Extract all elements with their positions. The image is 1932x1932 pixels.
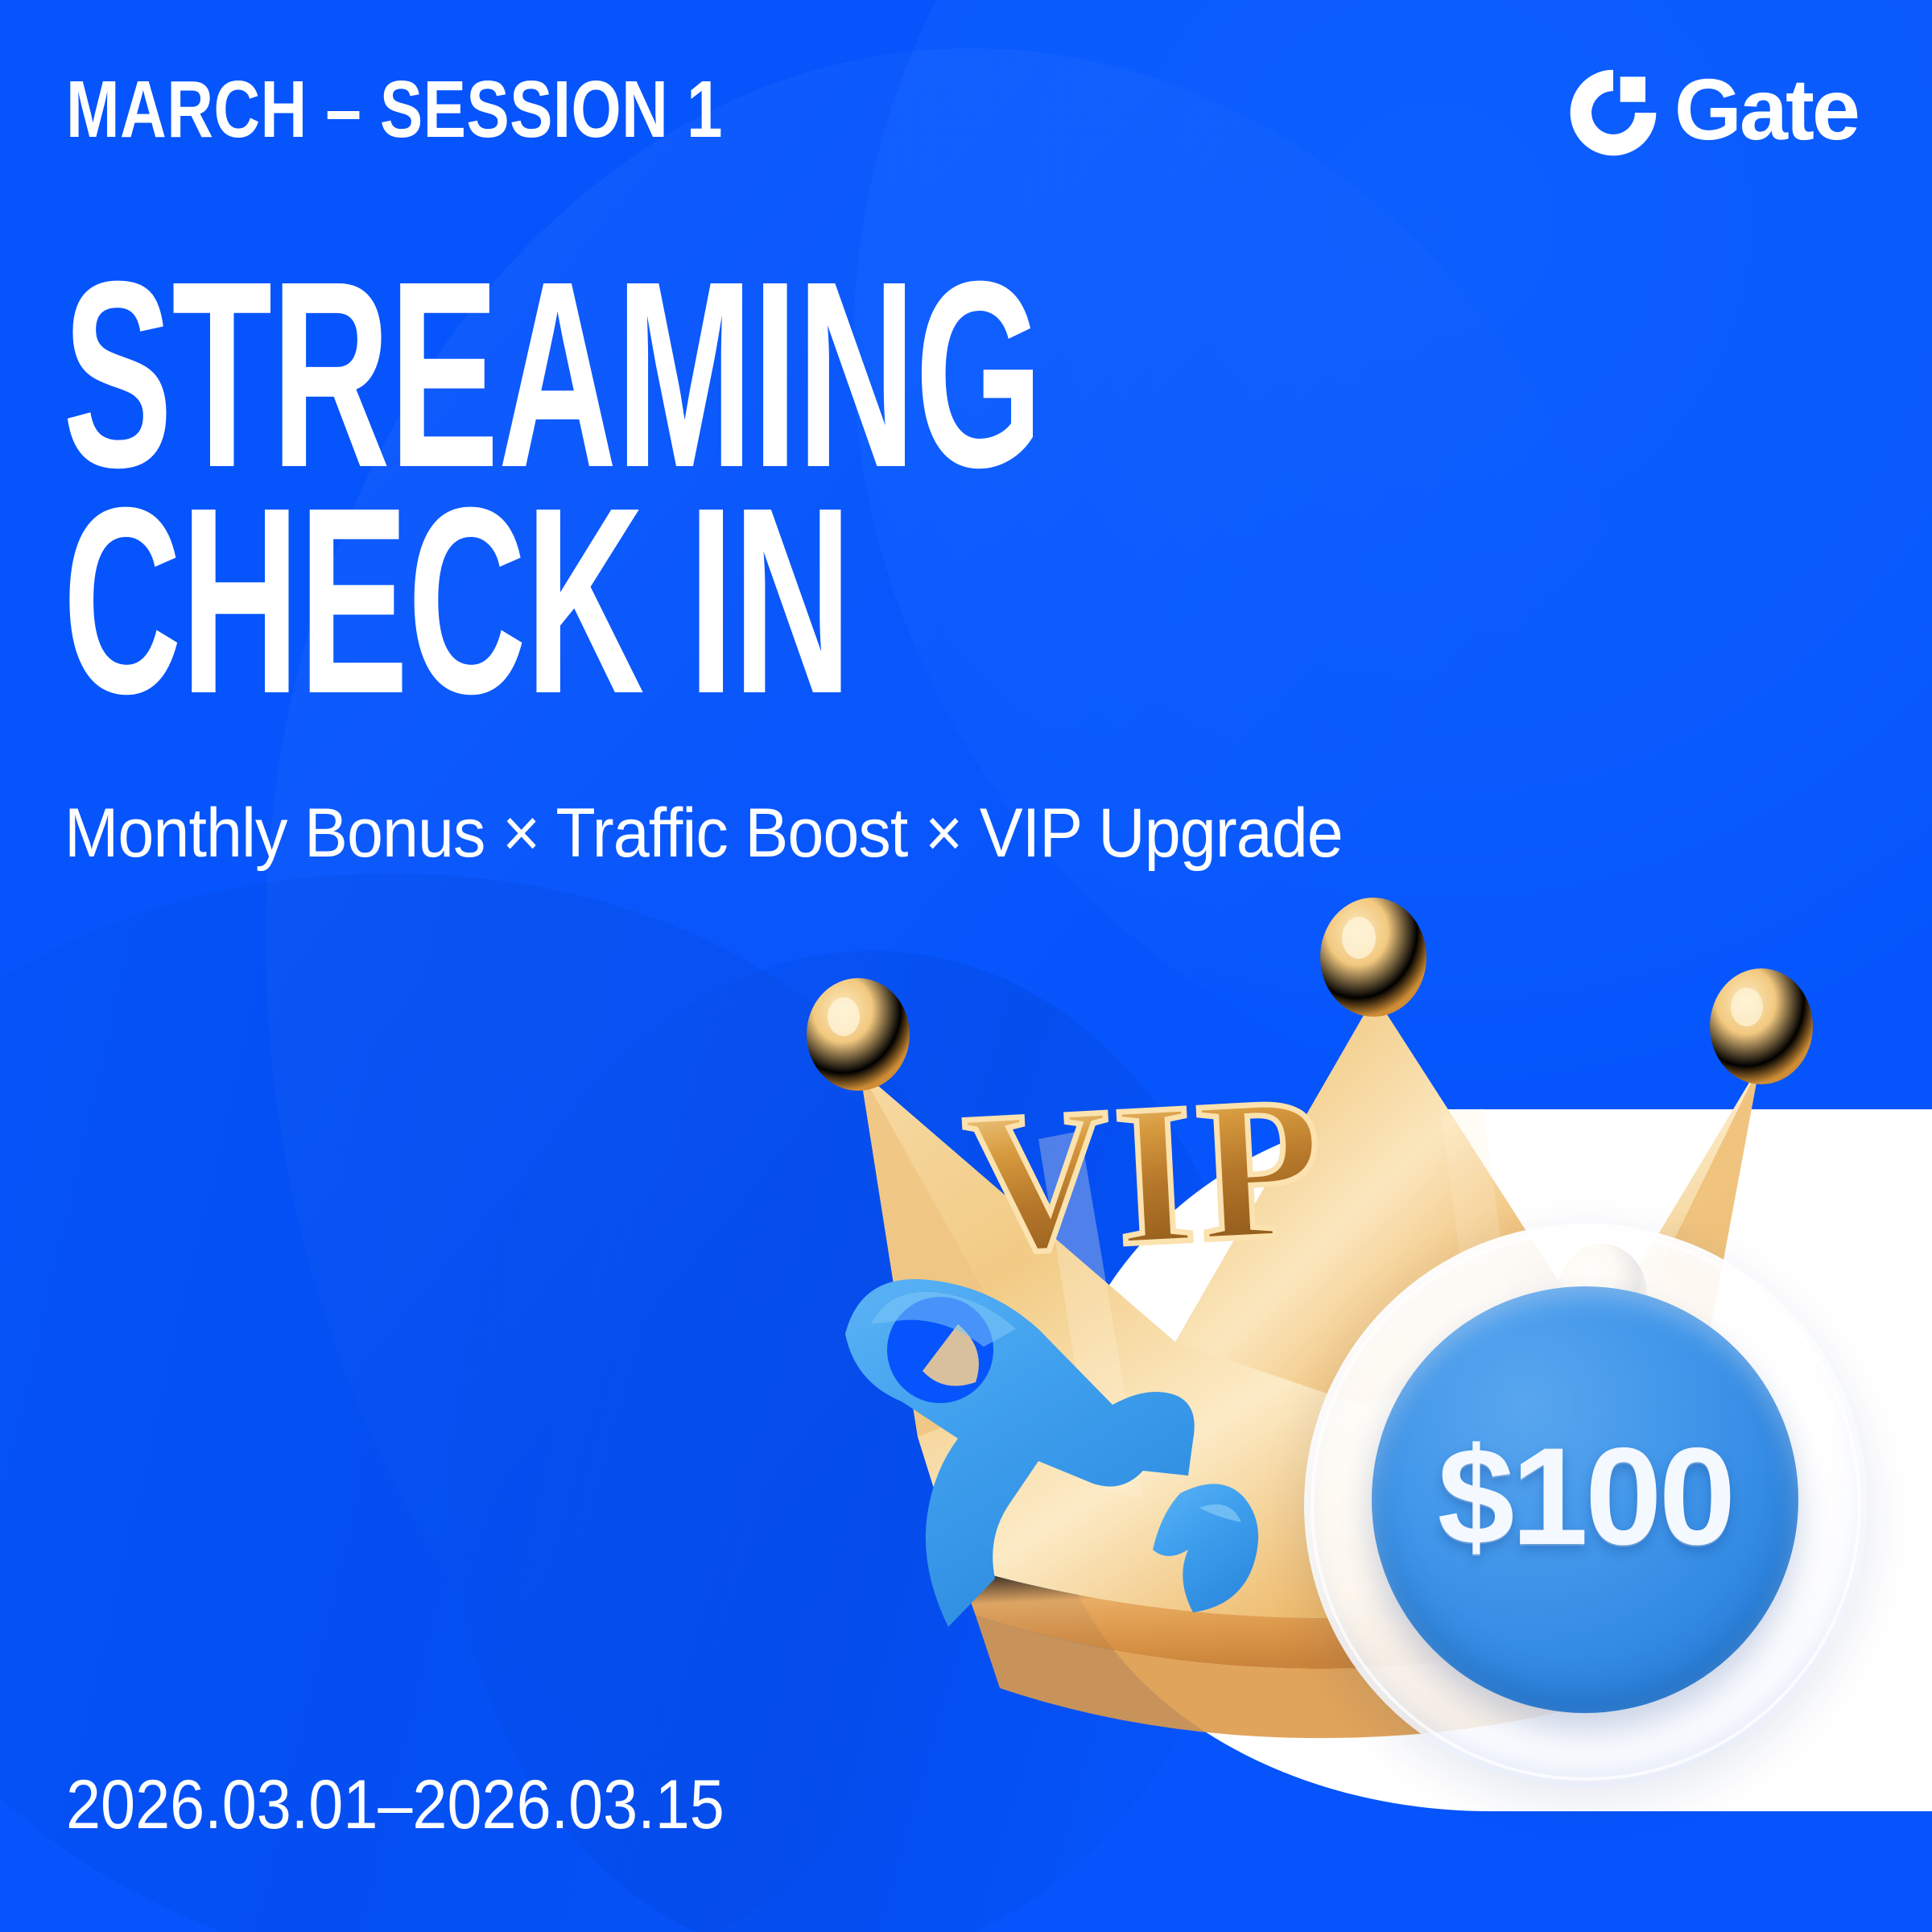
subtitle-benefits: Monthly Bonus × Traffic Boost × VIP Upgr… [64,794,1343,873]
headline-line-2: CHECK IN [63,481,1042,720]
coin-disc: $100 [1372,1286,1798,1713]
crown-ball-right [1710,968,1813,1084]
eyebrow-session-label: MARCH – SESSION 1 [66,69,723,150]
promo-banner: MARCH – SESSION 1 Gate STREAMING CHECK I… [0,0,1932,1932]
crown-ball-left [807,978,910,1091]
coin-amount-label: $100 [1438,1417,1733,1576]
crown-vip-label: VIP [960,1055,1331,1296]
gate-circle-mark-icon [1567,66,1660,159]
coin-icon: $100 [1304,1224,1868,1787]
brand-logo: Gate [1567,66,1858,159]
svg-text:VIP: VIP [960,1055,1331,1296]
crown-ball-center [1320,898,1426,1017]
page-title: STREAMING CHECK IN [63,254,1642,720]
brand-wordmark: Gate [1674,66,1858,153]
date-range: 2026.03.01–2026.03.15 [66,1765,724,1845]
